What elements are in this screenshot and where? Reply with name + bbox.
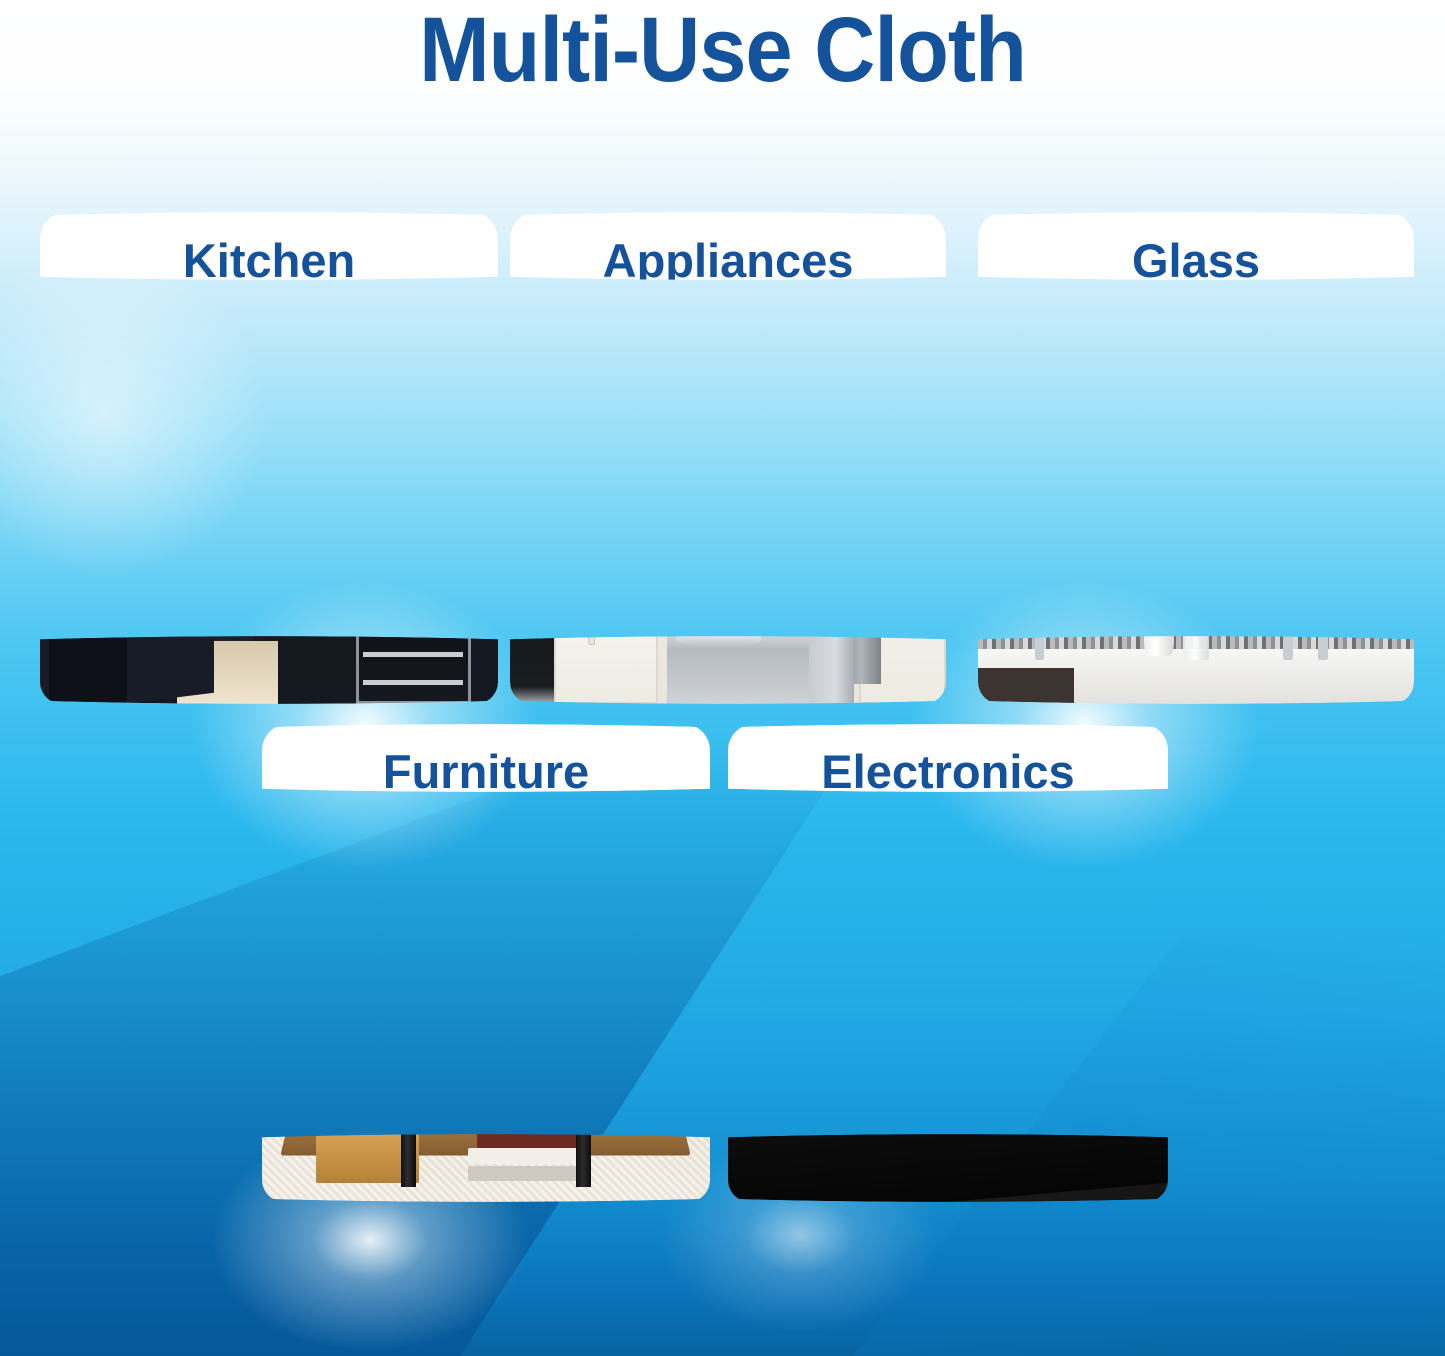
kitchen-illustration xyxy=(40,308,498,704)
card-photo-kitchen xyxy=(40,308,498,704)
card-photo-furniture xyxy=(262,818,710,1202)
glass-illustration xyxy=(978,308,1414,704)
potted-plant xyxy=(759,1006,799,1064)
appliances-illustration xyxy=(510,308,946,704)
feature-card-appliances[interactable]: Appliances xyxy=(510,212,946,704)
camera-icon xyxy=(1093,1037,1155,1083)
card-label-appliances: Appliances xyxy=(510,212,946,308)
card-label-glass: Glass xyxy=(978,212,1414,308)
feature-card-kitchen[interactable]: Kitchen xyxy=(40,212,498,704)
page-title: Multi-Use Cloth xyxy=(58,0,1387,106)
card-photo-glass xyxy=(978,308,1414,704)
feature-card-furniture[interactable]: Furniture xyxy=(262,724,710,1202)
card-label-furniture: Furniture xyxy=(262,724,710,818)
monitor-icon xyxy=(825,864,1071,1018)
feature-card-glass[interactable]: Glass xyxy=(978,212,1414,704)
card-photo-electronics xyxy=(728,818,1168,1202)
card-label-electronics: Electronics xyxy=(728,724,1168,818)
feature-card-electronics[interactable]: Electronics xyxy=(728,724,1168,1202)
card-label-kitchen: Kitchen xyxy=(40,212,498,308)
electronics-illustration xyxy=(728,818,1168,1202)
furniture-illustration xyxy=(262,818,710,1202)
card-photo-appliances xyxy=(510,308,946,704)
monitor-light-bar-icon xyxy=(842,845,1036,859)
